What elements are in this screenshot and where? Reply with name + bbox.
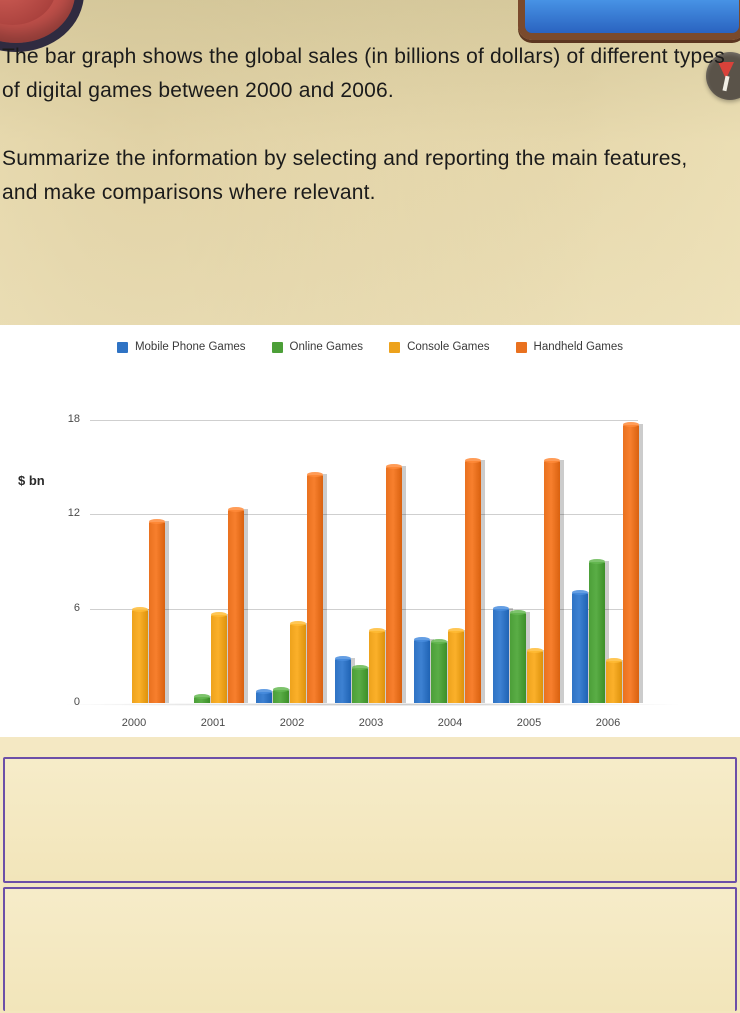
x-axis-tick-label: 2005	[499, 717, 559, 729]
y-axis-tick-label: 18	[52, 413, 80, 427]
bar-top-cap	[510, 610, 526, 615]
y-axis-tick-label: 0	[52, 696, 80, 710]
bar[interactable]	[510, 613, 526, 703]
bar-top-cap	[386, 464, 402, 469]
x-axis-tick-label: 2001	[183, 717, 243, 729]
x-axis-tick-label: 2006	[578, 717, 638, 729]
bar-side-face	[560, 460, 564, 703]
prompt-paragraph-2: Summarize the information by selecting a…	[2, 142, 728, 210]
y-axis-label: $ bn	[18, 473, 45, 488]
bar-top-cap	[544, 458, 560, 463]
bar[interactable]	[544, 461, 560, 703]
bar-top-cap	[589, 559, 605, 564]
x-axis-tick-label: 2000	[104, 717, 164, 729]
bar-side-face	[639, 424, 643, 703]
bar-top-cap	[369, 628, 385, 633]
bar[interactable]	[352, 668, 368, 703]
bar[interactable]	[256, 692, 272, 703]
bar-top-cap	[132, 607, 148, 612]
task-prompt: The bar graph shows the global sales (in…	[0, 40, 736, 210]
bar-group	[414, 461, 481, 703]
bar[interactable]	[589, 562, 605, 704]
prompt-spacer	[2, 108, 728, 142]
x-axis-labels: 2000200120022003200420052006	[90, 325, 660, 343]
decorative-blue-panel	[518, 0, 740, 40]
bar-top-cap	[256, 689, 272, 694]
bar-top-cap	[149, 519, 165, 524]
x-axis-tick-label: 2003	[341, 717, 401, 729]
bar-top-cap	[493, 606, 509, 611]
bar-side-face	[244, 509, 248, 703]
bar-group	[335, 467, 402, 703]
bar-top-cap	[431, 639, 447, 644]
bar[interactable]	[527, 651, 543, 703]
answer-textbox-2[interactable]	[3, 887, 737, 1011]
bar-group	[572, 425, 639, 703]
bar[interactable]	[448, 631, 464, 703]
bar-top-cap	[352, 665, 368, 670]
x-axis-tick-label: 2002	[262, 717, 322, 729]
bar-side-face	[402, 466, 406, 703]
answer-area	[0, 737, 740, 1013]
answer-textbox-1[interactable]	[3, 757, 737, 883]
bar-group	[493, 461, 560, 703]
bar[interactable]	[228, 510, 244, 703]
bar-top-cap	[414, 637, 430, 642]
bar[interactable]	[414, 640, 430, 703]
bar[interactable]	[132, 610, 148, 703]
bar[interactable]	[465, 461, 481, 703]
bar-side-face	[165, 521, 169, 703]
bar[interactable]	[149, 522, 165, 703]
bar-top-cap	[448, 628, 464, 633]
x-axis-tick-label: 2004	[420, 717, 480, 729]
bar-group	[177, 510, 244, 703]
bar[interactable]	[606, 661, 622, 703]
bar[interactable]	[335, 659, 351, 703]
bar-side-face	[481, 460, 485, 703]
bar-top-cap	[572, 590, 588, 595]
bar[interactable]	[623, 425, 639, 703]
bar-group	[256, 475, 323, 703]
bar-top-cap	[307, 472, 323, 477]
bar-chart-card: Mobile Phone GamesOnline GamesConsole Ga…	[0, 325, 740, 737]
y-axis-tick-label: 6	[52, 602, 80, 616]
bar-top-cap	[211, 612, 227, 617]
bar[interactable]	[273, 690, 289, 703]
bar[interactable]	[572, 593, 588, 703]
bar-side-face	[323, 474, 327, 703]
answer-textbox-2-text	[5, 889, 735, 901]
bar[interactable]	[493, 609, 509, 703]
bar-top-cap	[623, 422, 639, 427]
chart-bar-groups	[90, 325, 660, 737]
bar[interactable]	[431, 642, 447, 703]
bar[interactable]	[211, 615, 227, 703]
bar[interactable]	[307, 475, 323, 703]
bar[interactable]	[290, 624, 306, 703]
answer-textbox-1-text	[5, 759, 735, 771]
bar[interactable]	[369, 631, 385, 703]
bar-top-cap	[335, 656, 351, 661]
bar-group	[98, 522, 165, 703]
y-axis-tick-label: 12	[52, 507, 80, 521]
bar-top-cap	[194, 694, 210, 699]
bar-top-cap	[527, 648, 543, 653]
bar[interactable]	[194, 697, 210, 703]
prompt-paragraph-1: The bar graph shows the global sales (in…	[2, 40, 728, 108]
chart-plot-area: $ bn 061218 2000200120022003200420052006	[0, 325, 740, 737]
bar-top-cap	[273, 687, 289, 692]
bar-top-cap	[228, 507, 244, 512]
bar[interactable]	[386, 467, 402, 703]
bar-top-cap	[290, 621, 306, 626]
bar-top-cap	[606, 658, 622, 663]
bar-top-cap	[465, 458, 481, 463]
